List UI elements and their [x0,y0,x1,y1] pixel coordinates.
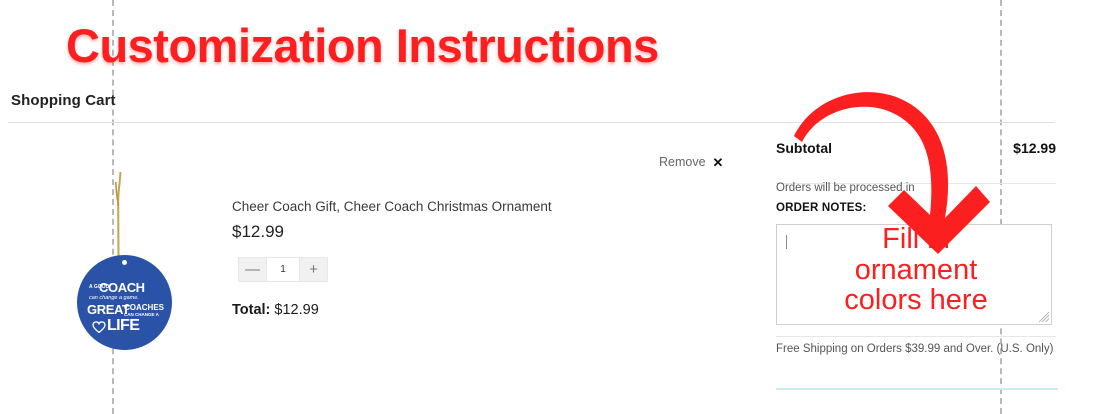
page-title: Shopping Cart [11,92,116,109]
order-notes-label: ORDER NOTES: [776,202,867,214]
quantity-stepper[interactable]: — 1 + [238,257,328,282]
heart-icon [92,321,106,333]
quantity-decrement-button[interactable]: — [239,258,266,281]
product-line-total-label: Total: [232,302,270,318]
product-thumbnail[interactable]: A GOOD COACH can change a game. GREAT CO… [63,170,193,362]
shipping-note-underline [776,388,1058,390]
ornament-line-coach: COACH [99,281,145,294]
ornament-disc: A GOOD COACH can change a game. GREAT CO… [77,255,172,350]
quantity-input[interactable]: 1 [266,258,300,281]
subtotal-row: Subtotal $12.99 [776,140,1056,164]
subtotal-value: $12.99 [1013,140,1056,156]
heading-divider [8,122,1055,123]
resize-handle-icon[interactable] [1039,312,1050,323]
processing-note: Orders will be processed in [776,182,915,194]
annotation-title: Customization Instructions [66,22,659,69]
cart-page-screenshot: Customization Instructions Shopping Cart… [0,0,1108,414]
product-title[interactable]: Cheer Coach Gift, Cheer Coach Christmas … [232,199,552,214]
product-line-total-value: $12.99 [274,302,318,318]
ornament-line-can-change: can change a game. [89,296,139,302]
text-caret [786,235,787,249]
product-price: $12.99 [232,222,284,242]
free-shipping-note: Free Shipping on Orders $39.99 and Over.… [776,340,1058,359]
remove-item-button[interactable]: Remove ✕ [659,155,723,169]
remove-item-label: Remove [659,155,706,169]
ornament-line-life: LIFE [107,318,139,334]
subtotal-label: Subtotal [776,140,832,156]
ornament-string-icon [115,172,122,258]
ornament-hole [122,260,127,265]
product-line-total: Total: $12.99 [232,302,319,318]
ornament-line-coaches: COACHES [124,304,164,312]
order-notes-input[interactable] [776,224,1052,325]
summary-divider-bottom [776,336,1056,337]
quantity-increment-button[interactable]: + [300,258,327,281]
close-x-icon[interactable]: ✕ [713,156,724,169]
order-summary-panel: Subtotal $12.99 Orders will be processed… [776,140,1056,164]
